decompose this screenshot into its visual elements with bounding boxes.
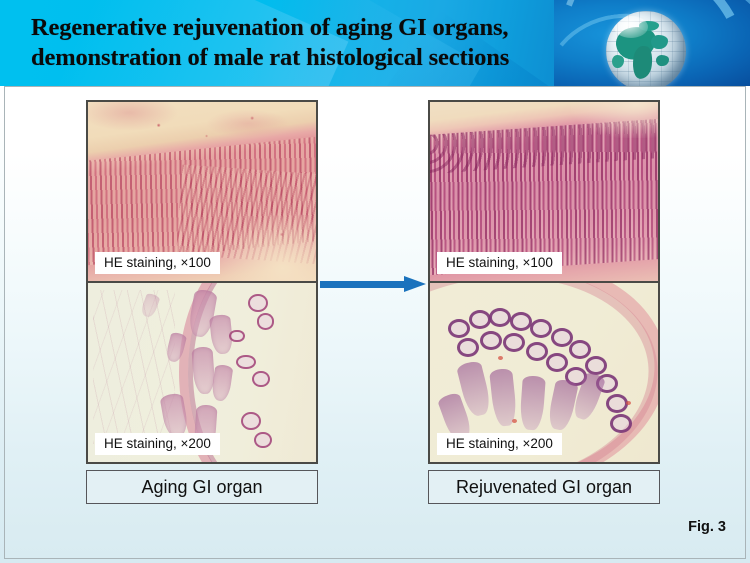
crypt [546,353,568,372]
magnification-label: HE staining, ×100 [437,252,562,274]
magnification-label: HE staining, ×200 [437,433,562,455]
sparse-strands [93,290,175,444]
micrograph-aging-top[interactable]: HE staining, ×100 [86,100,318,282]
crypt [254,432,272,449]
column-aging: HE staining, ×100 [86,100,318,464]
arrow-shaft [320,281,404,288]
crypt [252,371,270,388]
page-title: Regenerative rejuvenation of aging GI or… [31,13,631,73]
lumen-lightspot [571,100,660,138]
crypt [606,394,628,413]
crypt [257,313,275,330]
caption-aging: Aging GI organ [86,470,318,504]
caption-text: Aging GI organ [141,477,262,498]
crypt [503,333,525,352]
crypt [248,294,268,312]
header-banner: Regenerative rejuvenation of aging GI or… [0,0,750,86]
magnification-label: HE staining, ×200 [95,433,220,455]
crypt [526,342,548,361]
crypt [448,319,470,338]
slide: Regenerative rejuvenation of aging GI or… [0,0,750,563]
micrograph-aging-bottom[interactable]: HE staining, ×200 [86,282,318,464]
crypt [241,412,261,430]
column-rejuvenated: HE staining, ×100 [428,100,660,464]
micrograph-rejuvenated-bottom[interactable]: HE staining, ×200 [428,282,660,464]
magnification-label: HE staining, ×100 [95,252,220,274]
crypt [469,310,491,329]
crypt [510,312,532,331]
transformation-arrow-icon [320,276,426,292]
crypt [610,414,632,433]
crypt [530,319,552,338]
micrograph-rejuvenated-top[interactable]: HE staining, ×100 [428,100,660,282]
caption-text: Rejuvenated GI organ [456,477,632,498]
crypt [229,330,244,343]
arrow-head [404,276,426,292]
figure-number-label: Fig. 3 [688,519,726,535]
caption-rejuvenated: Rejuvenated GI organ [428,470,660,504]
